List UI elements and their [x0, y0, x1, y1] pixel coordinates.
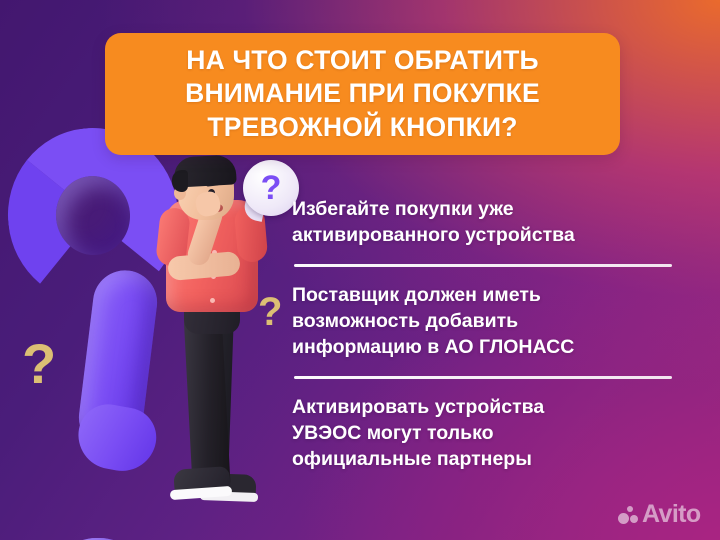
headline-text: НА ЧТО СТОИТ ОБРАТИТЬ ВНИМАНИЕ ПРИ ПОКУП…: [185, 44, 540, 144]
speech-bubble-question-mark-icon: ?: [243, 160, 299, 216]
headline-banner: НА ЧТО СТОИТ ОБРАТИТЬ ВНИМАНИЕ ПРИ ПОКУП…: [105, 33, 620, 155]
point-divider-2: [294, 376, 672, 379]
person-hair-side: [172, 170, 188, 192]
small-question-mark-icon-left: ?: [22, 336, 56, 392]
point-divider-1: [294, 264, 672, 267]
point-item-2: Поставщик должен иметь возможность добав…: [292, 282, 674, 360]
avito-wordmark: Avito: [642, 502, 701, 527]
person-shirt-button: [210, 298, 215, 303]
avito-logo-icon: [618, 505, 638, 525]
poster-canvas: ? ? ? НА ЧТО СТОИТ ОБРАТИТЬ ВНИМАНИЕ ПРИ…: [0, 0, 720, 540]
point-item-3: Активировать устройства УВЭОС могут толь…: [292, 394, 674, 472]
points-list: Избегайте покупки уже активированного ус…: [292, 196, 674, 472]
avito-watermark: Avito: [618, 502, 701, 527]
point-item-1: Избегайте покупки уже активированного ус…: [292, 196, 674, 248]
